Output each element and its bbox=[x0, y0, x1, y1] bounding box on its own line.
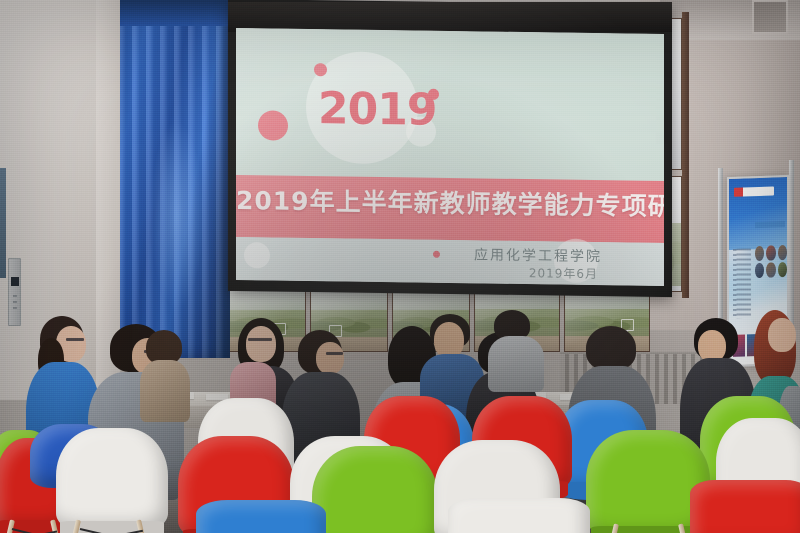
slide-decor-circle-bottom bbox=[244, 242, 270, 268]
window-mullion bbox=[682, 12, 689, 298]
wall-trim-strip bbox=[0, 168, 6, 278]
slide-year-badge: 2019 bbox=[318, 83, 436, 136]
participant-p13 bbox=[488, 310, 542, 388]
seminar-room-photo: 2019 2019年上半年新教师教学能力专项研讨会 应用化学工程学院 2019年… bbox=[0, 0, 800, 533]
chair-green[interactable] bbox=[312, 446, 438, 533]
slide-date: 2019年6月 bbox=[529, 264, 598, 282]
participant-p3 bbox=[140, 330, 188, 420]
slide-dot-large bbox=[258, 110, 288, 140]
participant-head bbox=[316, 342, 344, 374]
banner-photo-thumb bbox=[778, 245, 787, 260]
participant-head bbox=[768, 318, 796, 352]
banner-body-text-lines bbox=[733, 248, 751, 319]
slide-dot-tiny bbox=[433, 251, 440, 258]
banner-photo-thumb bbox=[755, 246, 764, 261]
chair-white[interactable] bbox=[56, 428, 168, 532]
chair-shell bbox=[196, 500, 326, 533]
banner-logo-icon bbox=[734, 186, 774, 196]
participant-body bbox=[488, 336, 544, 392]
curtain-rail bbox=[118, 0, 230, 26]
ceiling-vent bbox=[752, 0, 788, 34]
banner-photo-thumb bbox=[778, 262, 787, 277]
slide-dot-medium bbox=[314, 63, 327, 76]
banner-photo-thumb bbox=[766, 245, 775, 260]
curtain-highlight bbox=[150, 120, 204, 310]
panel-button-icon[interactable] bbox=[13, 295, 17, 297]
slide-title: 2019年上半年新教师教学能力专项研讨会 bbox=[236, 181, 664, 223]
participant-hair bbox=[586, 326, 636, 370]
banner-heading-bar bbox=[755, 221, 785, 228]
participant-glasses-icon bbox=[326, 352, 343, 355]
participant-glasses-icon bbox=[66, 338, 84, 341]
slide-top-panel bbox=[236, 28, 664, 181]
panel-display-icon bbox=[11, 277, 19, 286]
presentation-slide: 2019 2019年上半年新教师教学能力专项研讨会 应用化学工程学院 2019年… bbox=[236, 28, 664, 286]
slide-organization: 应用化学工程学院 bbox=[474, 244, 602, 266]
participant-hair bbox=[146, 330, 182, 364]
panel-button-icon[interactable] bbox=[13, 307, 17, 309]
chair-shell bbox=[312, 446, 438, 533]
banner-photo-thumb bbox=[755, 263, 764, 278]
participant-head bbox=[434, 322, 464, 358]
chair-blue[interactable] bbox=[196, 500, 326, 533]
banner-photo-thumb bbox=[766, 262, 775, 277]
participant-body bbox=[140, 360, 190, 422]
chair-seat bbox=[591, 526, 705, 533]
wall-control-panel[interactable] bbox=[8, 258, 21, 326]
chair-shell bbox=[448, 498, 590, 533]
chair-shell bbox=[56, 428, 168, 532]
panel-button-icon[interactable] bbox=[13, 301, 17, 303]
banner-photo-grid bbox=[755, 245, 787, 310]
chair-shell bbox=[690, 480, 800, 533]
chair-red[interactable] bbox=[690, 480, 800, 533]
chair-white[interactable] bbox=[448, 498, 590, 533]
participant-p12 bbox=[236, 322, 276, 402]
projection-screen-roller bbox=[228, 2, 672, 32]
